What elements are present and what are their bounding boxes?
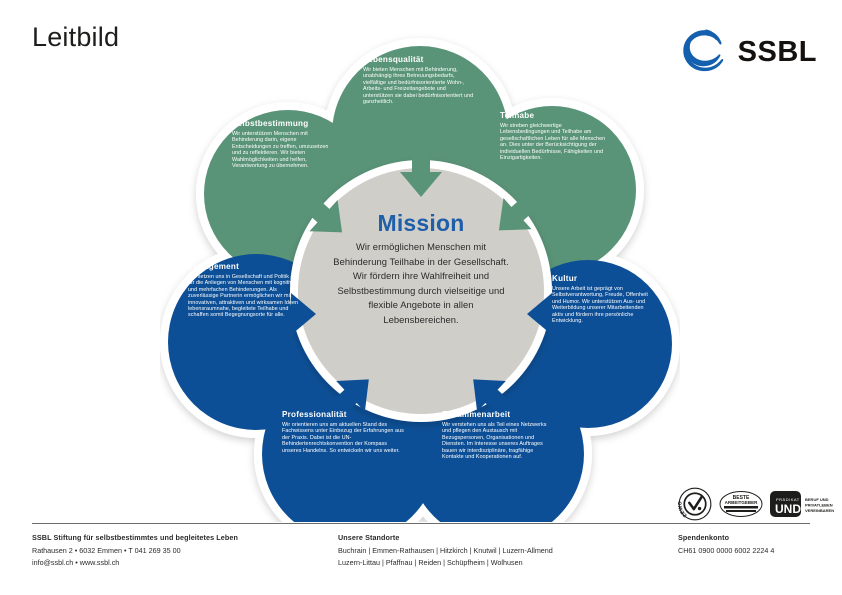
footer-org-address: Rathausen 2 • 6032 Emmen • T 041 269 35 …	[32, 546, 181, 555]
ssbl-wordmark: SSBL	[738, 36, 817, 69]
und-badge-icon: PRÄDIKAT UND BERUF UND PRIVATLEBEN VEREI…	[770, 489, 834, 524]
mission-title: Mission	[377, 212, 464, 235]
footer-org-contact[interactable]: info@ssbl.ch • www.ssbl.ch	[32, 558, 119, 567]
page-title: Leitbild	[32, 22, 119, 53]
footer-org-name: SSBL Stiftung für selbstbestimmtes und b…	[32, 532, 332, 544]
certification-badges: ZEWO BESTE ARBEITGEBER PRÄDIKAT UND	[678, 487, 834, 526]
footer-locations-line-2: Luzern-Littau | Pfaffnau | Reiden | Schü…	[338, 558, 523, 567]
footer-locations: Unsere Standorte Buchrain | Emmen-Rathau…	[338, 532, 658, 569]
footer-donation: Spendenkonto CH61 0900 0000 6002 2224 4	[678, 532, 828, 557]
footer-donation-iban: CH61 0900 0000 6002 2224 4	[678, 546, 774, 555]
zewo-seal-icon: ZEWO	[678, 487, 712, 526]
mission-body: Wir ermöglichen Menschen mit Behinderung…	[331, 240, 511, 327]
svg-text:UND: UND	[775, 502, 801, 516]
page-footer: SSBL Stiftung für selbstbestimmtes und b…	[0, 523, 842, 595]
svg-text:BERUF UND: BERUF UND	[805, 497, 829, 502]
footer-donation-head: Spendenkonto	[678, 532, 828, 544]
svg-text:VEREINBAREN: VEREINBAREN	[805, 508, 834, 513]
mission-flower-diagram: Lebensqualität Wir bieten Menschen mit B…	[160, 22, 680, 522]
mission-center: Mission Wir ermöglichen Menschen mit Beh…	[312, 182, 530, 400]
beste-arbeitgeber-badge-icon: BESTE ARBEITGEBER	[719, 489, 763, 524]
ssbl-brush-circle-icon	[681, 28, 729, 76]
footer-locations-line-1: Buchrain | Emmen-Rathausen | Hitzkirch |…	[338, 546, 553, 555]
leitbild-page: Leitbild SSBL	[0, 0, 842, 595]
footer-locations-head: Unsere Standorte	[338, 532, 658, 544]
ssbl-logo: SSBL	[681, 28, 817, 76]
footer-organisation: SSBL Stiftung für selbstbestimmtes und b…	[32, 532, 332, 569]
svg-text:PRÄDIKAT: PRÄDIKAT	[776, 497, 800, 502]
svg-text:PRIVATLEBEN: PRIVATLEBEN	[805, 503, 833, 508]
svg-text:ARBEITGEBER: ARBEITGEBER	[725, 500, 759, 505]
